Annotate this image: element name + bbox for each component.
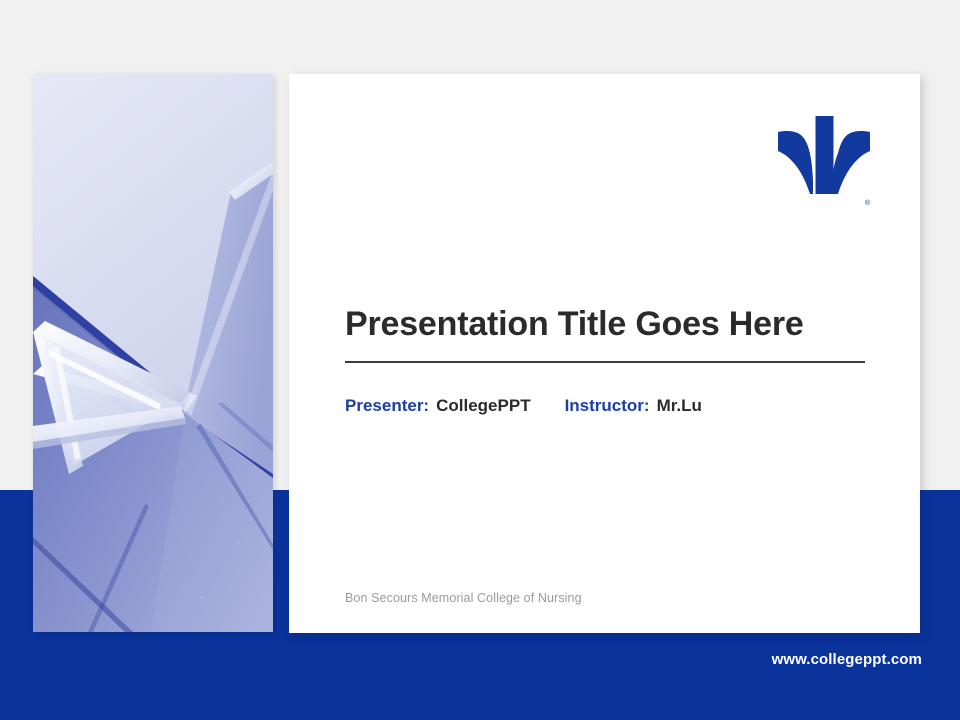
institution-name: Bon Secours Memorial College of Nursing	[345, 591, 582, 605]
presenter-label: Presenter:	[345, 396, 429, 416]
instructor-credit: Instructor: Mr.Lu	[565, 396, 702, 416]
registered-trademark-mark: ®	[865, 200, 870, 207]
instructor-value: Mr.Lu	[657, 396, 702, 416]
title-block: Presentation Title Goes Here	[345, 305, 865, 363]
title-divider	[345, 361, 865, 363]
page-title: Presentation Title Goes Here	[345, 305, 865, 343]
credits-row: Presenter: CollegePPT Instructor: Mr.Lu	[345, 396, 702, 416]
instructor-label: Instructor:	[565, 396, 650, 416]
architectural-building-photo	[33, 74, 273, 632]
slide-stage: ® Presentation Title Goes Here Presenter…	[0, 0, 960, 720]
presenter-value: CollegePPT	[436, 396, 530, 416]
footer-url: www.collegeppt.com	[772, 651, 922, 668]
presenter-credit: Presenter: CollegePPT	[345, 396, 531, 416]
bon-secours-logo: ®	[776, 110, 872, 208]
